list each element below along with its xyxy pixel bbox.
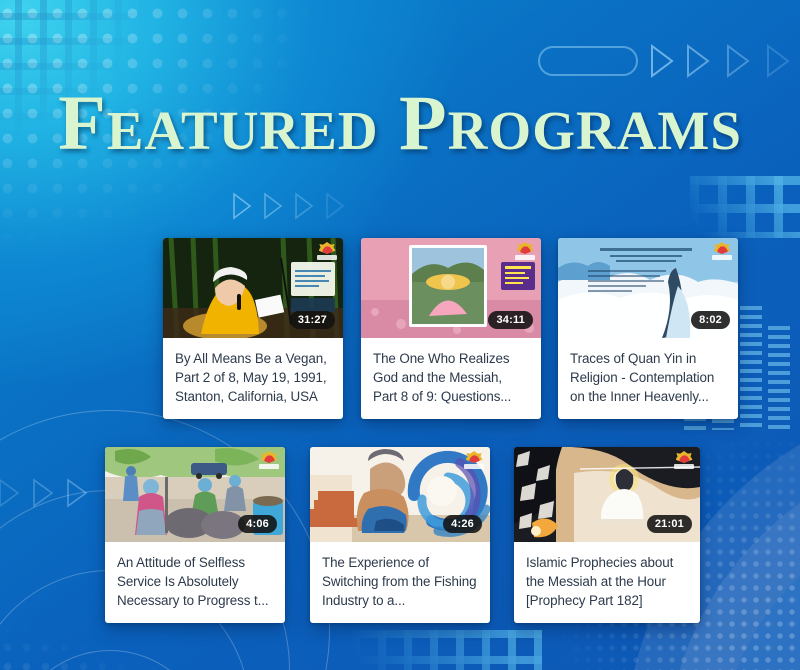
- program-card-title: By All Means Be a Vegan, Part 2 of 8, Ma…: [163, 338, 343, 419]
- program-card-title: Traces of Quan Yin in Religion - Contemp…: [558, 338, 738, 419]
- play-triangle-icon: [232, 192, 252, 220]
- featured-programs-banner: Featured Programs: [0, 0, 800, 670]
- channel-logo-icon: [463, 451, 485, 473]
- program-card[interactable]: 31:27 By All Means Be a Vegan, Part 2 of…: [163, 238, 343, 419]
- program-card-title: The Experience of Switching from the Fis…: [310, 542, 490, 623]
- channel-logo-icon: [711, 242, 733, 264]
- program-card-title: The One Who Realizes God and the Messiah…: [361, 338, 541, 419]
- page-title: Featured Programs: [0, 84, 800, 162]
- duration-badge: 31:27: [290, 311, 335, 329]
- play-triangle-icon: [325, 192, 345, 220]
- duration-badge: 21:01: [647, 515, 692, 533]
- play-triangle-strip-top-right: [650, 44, 790, 78]
- play-triangle-strip-bottom-left: [0, 478, 88, 508]
- channel-logo-icon: [258, 451, 280, 473]
- program-card[interactable]: 4:26 The Experience of Switching from th…: [310, 447, 490, 623]
- play-triangle-icon: [766, 44, 790, 78]
- duration-badge: 34:11: [488, 311, 533, 329]
- play-triangle-icon: [650, 45, 670, 77]
- program-thumbnail[interactable]: 34:11: [361, 238, 541, 338]
- duration-badge: 4:06: [238, 515, 277, 533]
- program-card[interactable]: 8:02 Traces of Quan Yin in Religion - Co…: [558, 238, 738, 419]
- duration-badge: 8:02: [691, 311, 730, 329]
- play-triangle-icon: [0, 478, 20, 508]
- square-grid-right: [690, 176, 800, 238]
- program-thumbnail[interactable]: 4:26: [310, 447, 490, 542]
- play-triangle-icon: [726, 44, 750, 78]
- play-triangle-strip-middle: [232, 192, 345, 220]
- play-triangle-icon: [686, 44, 710, 78]
- program-card-title: An Attitude of Selfless Service Is Absol…: [105, 542, 285, 623]
- channel-logo-icon: [514, 242, 536, 264]
- program-card[interactable]: 21:01 Islamic Prophecies about the Messi…: [514, 447, 700, 623]
- page-title-text: Featured Programs: [0, 84, 800, 162]
- channel-logo-icon: [316, 242, 338, 264]
- program-thumbnail[interactable]: 4:06: [105, 447, 285, 542]
- play-triangle-icon: [32, 478, 54, 508]
- program-card[interactable]: 4:06 An Attitude of Selfless Service Is …: [105, 447, 285, 623]
- play-triangle-icon: [263, 192, 283, 220]
- square-grid-bottom: [352, 630, 542, 670]
- program-thumbnail[interactable]: 21:01: [514, 447, 700, 542]
- program-card-title: Islamic Prophecies about the Messiah at …: [514, 542, 700, 623]
- program-card[interactable]: 34:11 The One Who Realizes God and the M…: [361, 238, 541, 419]
- program-thumbnail[interactable]: 8:02: [558, 238, 738, 338]
- program-thumbnail[interactable]: 31:27: [163, 238, 343, 338]
- progress-pill-icon: [538, 46, 638, 76]
- play-triangle-icon: [294, 192, 314, 220]
- duration-badge: 4:26: [443, 515, 482, 533]
- play-triangle-icon: [66, 478, 88, 508]
- channel-logo-icon: [673, 451, 695, 473]
